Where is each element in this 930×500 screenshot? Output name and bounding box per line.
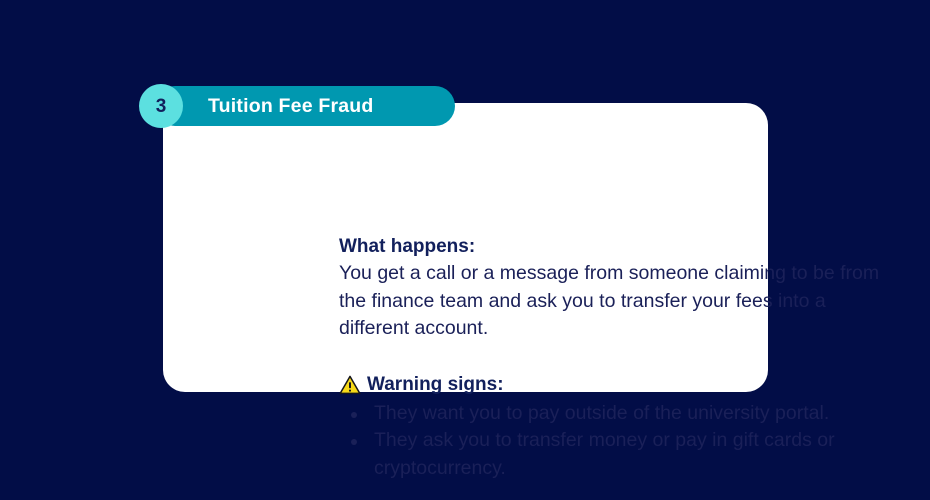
warning-signs-section: Warning signs: They want you to pay outs… — [339, 371, 914, 483]
what-happens-section: What happens: You get a call or a messag… — [339, 233, 914, 343]
card-body: What happens: You get a call or a messag… — [339, 233, 914, 482]
card-header-pill: Tuition Fee Fraud — [155, 86, 455, 126]
slide-canvas: What happens: You get a call or a messag… — [0, 0, 930, 500]
warning-heading-row: Warning signs: — [339, 371, 914, 398]
what-happens-heading: What happens: — [339, 233, 914, 260]
list-item: They want you to pay outside of the univ… — [339, 400, 919, 428]
page-title: Tuition Fee Fraud — [208, 95, 374, 118]
warning-signs-heading: Warning signs: — [367, 371, 504, 398]
step-number-badge: 3 — [139, 84, 183, 128]
warning-signs-list: They want you to pay outside of the univ… — [339, 400, 914, 483]
what-happens-text: You get a call or a message from someone… — [339, 260, 892, 343]
warning-triangle-icon — [339, 375, 361, 395]
info-card: What happens: You get a call or a messag… — [163, 103, 768, 392]
list-item: They ask you to transfer money or pay in… — [339, 427, 919, 482]
step-number-value: 3 — [156, 97, 167, 116]
